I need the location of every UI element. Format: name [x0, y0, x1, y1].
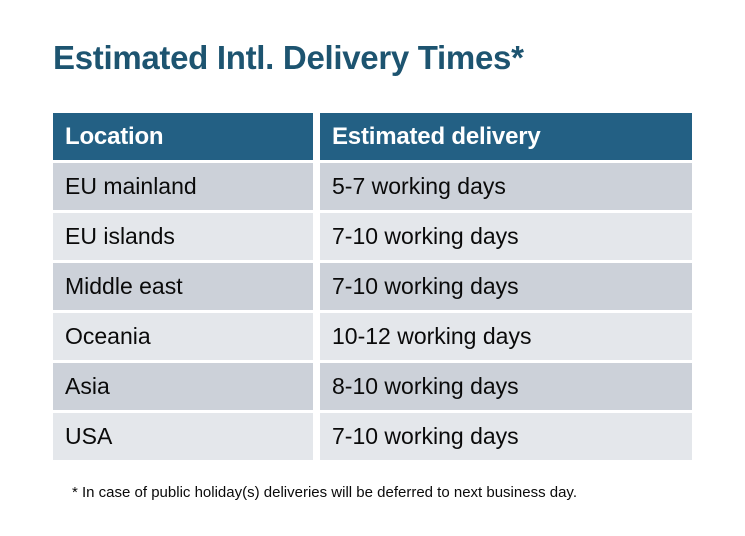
table-row: EU islands 7-10 working days [53, 213, 692, 260]
cell-location: Oceania [53, 313, 313, 360]
cell-estimated-delivery: 5-7 working days [320, 163, 692, 210]
table-header-row: Location Estimated delivery [53, 113, 692, 160]
footnote-text: * In case of public holiday(s) deliverie… [72, 483, 577, 503]
table-row: USA 7-10 working days [53, 413, 692, 460]
cell-location: USA [53, 413, 313, 460]
cell-estimated-delivery: 10-12 working days [320, 313, 692, 360]
delivery-times-table: Location Estimated delivery EU mainland … [53, 113, 692, 460]
cell-location: Asia [53, 363, 313, 410]
cell-location: Middle east [53, 263, 313, 310]
cell-estimated-delivery: 7-10 working days [320, 413, 692, 460]
column-header-estimated-delivery: Estimated delivery [320, 113, 692, 160]
cell-estimated-delivery: 8-10 working days [320, 363, 692, 410]
cell-estimated-delivery: 7-10 working days [320, 213, 692, 260]
cell-estimated-delivery: 7-10 working days [320, 263, 692, 310]
page-title: Estimated Intl. Delivery Times* [53, 36, 524, 80]
table-row: Middle east 7-10 working days [53, 263, 692, 310]
delivery-times-card: Estimated Intl. Delivery Times* Location… [0, 0, 745, 536]
table-row: Asia 8-10 working days [53, 363, 692, 410]
cell-location: EU islands [53, 213, 313, 260]
cell-location: EU mainland [53, 163, 313, 210]
table-row: EU mainland 5-7 working days [53, 163, 692, 210]
table-row: Oceania 10-12 working days [53, 313, 692, 360]
column-header-location: Location [53, 113, 313, 160]
